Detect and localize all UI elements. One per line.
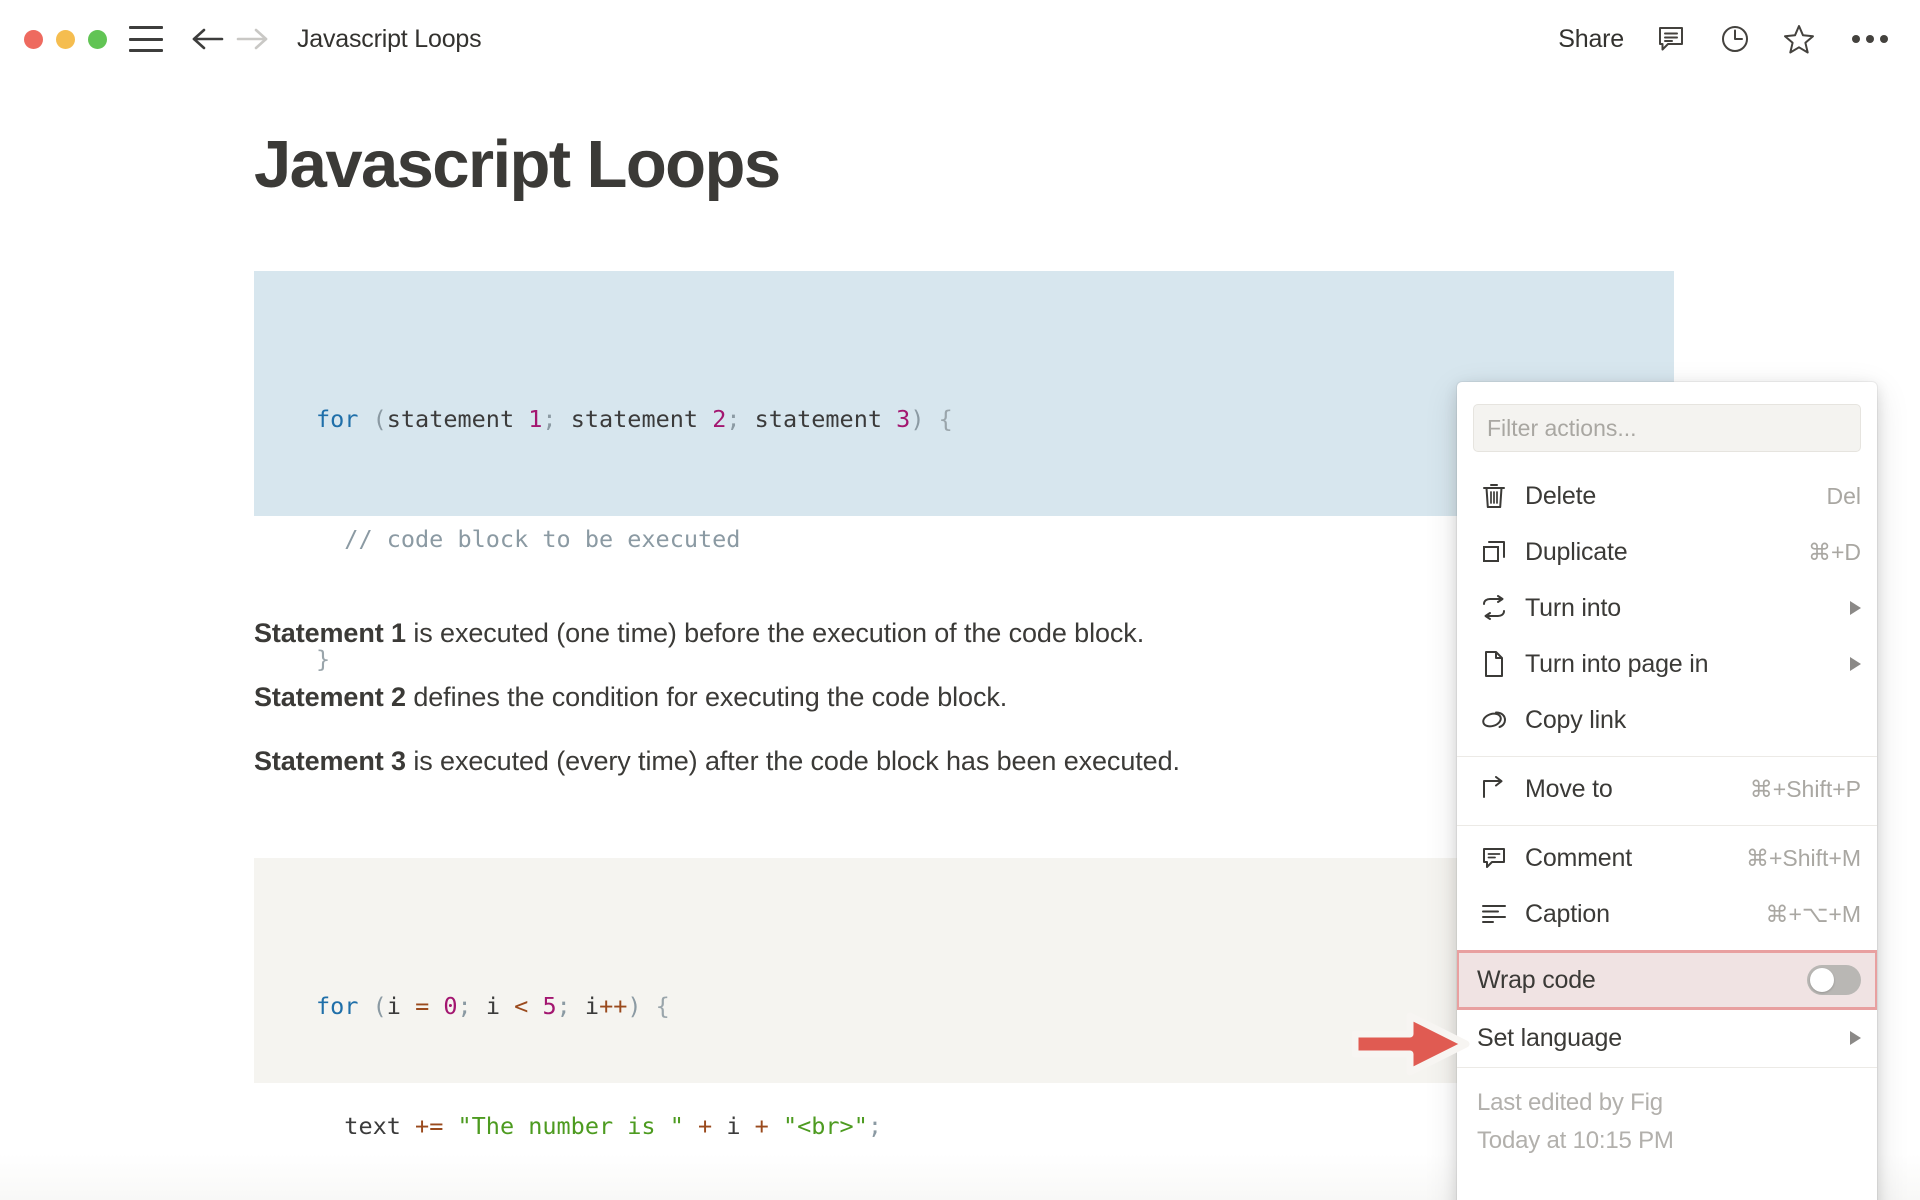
menu-item-shortcut: ⌘+Shift+M <box>1746 845 1861 872</box>
paragraph-bold: Statement 2 <box>254 682 406 712</box>
document-page: Javascript Loops for (statement 1; state… <box>0 78 1920 1200</box>
comment-icon <box>1477 841 1511 875</box>
menu-item-label: Turn into page in <box>1525 650 1708 679</box>
clock-icon[interactable] <box>1718 22 1752 56</box>
menu-item-caption[interactable]: Caption ⌘+⌥+M <box>1457 886 1877 942</box>
menu-item-label: Turn into <box>1525 594 1621 623</box>
move-to-icon <box>1477 772 1511 806</box>
page-title[interactable]: Javascript Loops <box>254 131 779 198</box>
menu-item-turn-into[interactable]: Turn into <box>1457 580 1877 636</box>
caption-icon <box>1477 897 1511 931</box>
paragraph-text: is executed (every time) after the code … <box>406 746 1180 776</box>
traffic-lights <box>24 30 107 49</box>
menu-item-label: Comment <box>1525 844 1632 873</box>
chevron-right-icon <box>1850 601 1861 615</box>
menu-item-label: Copy link <box>1525 706 1626 735</box>
menu-item-shortcut: Del <box>1826 483 1861 510</box>
menu-item-label: Move to <box>1525 775 1613 804</box>
menu-item-label: Caption <box>1525 900 1610 929</box>
menu-item-move-to[interactable]: Move to ⌘+Shift+P <box>1457 761 1877 817</box>
menu-item-shortcut: ⌘+Shift+P <box>1750 776 1861 803</box>
menu-item-duplicate[interactable]: Duplicate ⌘+D <box>1457 524 1877 580</box>
block-context-menu: Delete Del Duplicate ⌘+D <box>1457 382 1877 1200</box>
paragraph-bold: Statement 1 <box>254 618 406 648</box>
menu-group-primary: Delete Del Duplicate ⌘+D <box>1457 464 1877 756</box>
more-horizontal-icon[interactable] <box>1846 29 1894 49</box>
last-edited-at: Today at 10:15 PM <box>1477 1122 1857 1160</box>
comment-icon[interactable] <box>1654 22 1688 56</box>
menu-item-shortcut: ⌘+⌥+M <box>1765 901 1861 928</box>
menu-item-label: Duplicate <box>1525 538 1627 567</box>
title-bar: Javascript Loops Share <box>0 0 1920 78</box>
chevron-right-icon <box>1850 657 1861 671</box>
paragraph-text: is executed (one time) before the execut… <box>406 618 1144 648</box>
menu-item-label: Set language <box>1477 1024 1622 1053</box>
menu-item-turn-into-page-in[interactable]: Turn into page in <box>1457 636 1877 692</box>
arrow-left-icon[interactable] <box>189 20 227 58</box>
menu-item-shortcut: ⌘+D <box>1808 539 1861 566</box>
hamburger-icon[interactable] <box>129 26 163 52</box>
paragraph-text: defines the condition for executing the … <box>406 682 1007 712</box>
right-arrow-annotation <box>1352 1010 1470 1078</box>
filter-input-wrapper <box>1457 382 1877 464</box>
toggle-knob <box>1810 968 1834 992</box>
page-icon <box>1477 647 1511 681</box>
menu-item-label: Wrap code <box>1477 966 1596 995</box>
paragraph-statement-1[interactable]: Statement 1 is executed (one time) befor… <box>254 615 1144 651</box>
turn-into-icon <box>1477 591 1511 625</box>
breadcrumb[interactable]: Javascript Loops <box>297 25 481 54</box>
trash-icon <box>1477 479 1511 513</box>
last-edited-by: Last edited by Fig <box>1477 1084 1857 1122</box>
link-icon <box>1477 703 1511 737</box>
paragraph-statement-3[interactable]: Statement 3 is executed (every time) aft… <box>254 743 1180 779</box>
arrow-right-icon[interactable] <box>233 20 271 58</box>
menu-group-annotate: Comment ⌘+Shift+M Caption ⌘+⌥+M <box>1457 826 1877 950</box>
menu-item-copy-link[interactable]: Copy link <box>1457 692 1877 748</box>
menu-item-set-language[interactable]: Set language <box>1457 1009 1877 1067</box>
star-icon[interactable] <box>1782 22 1816 56</box>
menu-footer: Last edited by Fig Today at 10:15 PM <box>1457 1068 1877 1172</box>
menu-item-comment[interactable]: Comment ⌘+Shift+M <box>1457 830 1877 886</box>
share-button[interactable]: Share <box>1558 25 1624 54</box>
paragraph-statement-2[interactable]: Statement 2 defines the condition for ex… <box>254 679 1007 715</box>
chevron-right-icon <box>1850 1031 1861 1045</box>
filter-actions-input[interactable] <box>1473 404 1861 452</box>
app-window: Javascript Loops Share <box>0 0 1920 1200</box>
minimize-window-button[interactable] <box>56 30 75 49</box>
menu-item-delete[interactable]: Delete Del <box>1457 468 1877 524</box>
menu-item-wrap-code[interactable]: Wrap code <box>1457 951 1877 1009</box>
title-bar-actions: Share <box>1558 22 1894 56</box>
menu-group-move: Move to ⌘+Shift+P <box>1457 757 1877 825</box>
close-window-button[interactable] <box>24 30 43 49</box>
paragraph-bold: Statement 3 <box>254 746 406 776</box>
menu-item-label: Delete <box>1525 482 1596 511</box>
wrap-code-toggle[interactable] <box>1807 965 1861 995</box>
duplicate-icon <box>1477 535 1511 569</box>
maximize-window-button[interactable] <box>88 30 107 49</box>
